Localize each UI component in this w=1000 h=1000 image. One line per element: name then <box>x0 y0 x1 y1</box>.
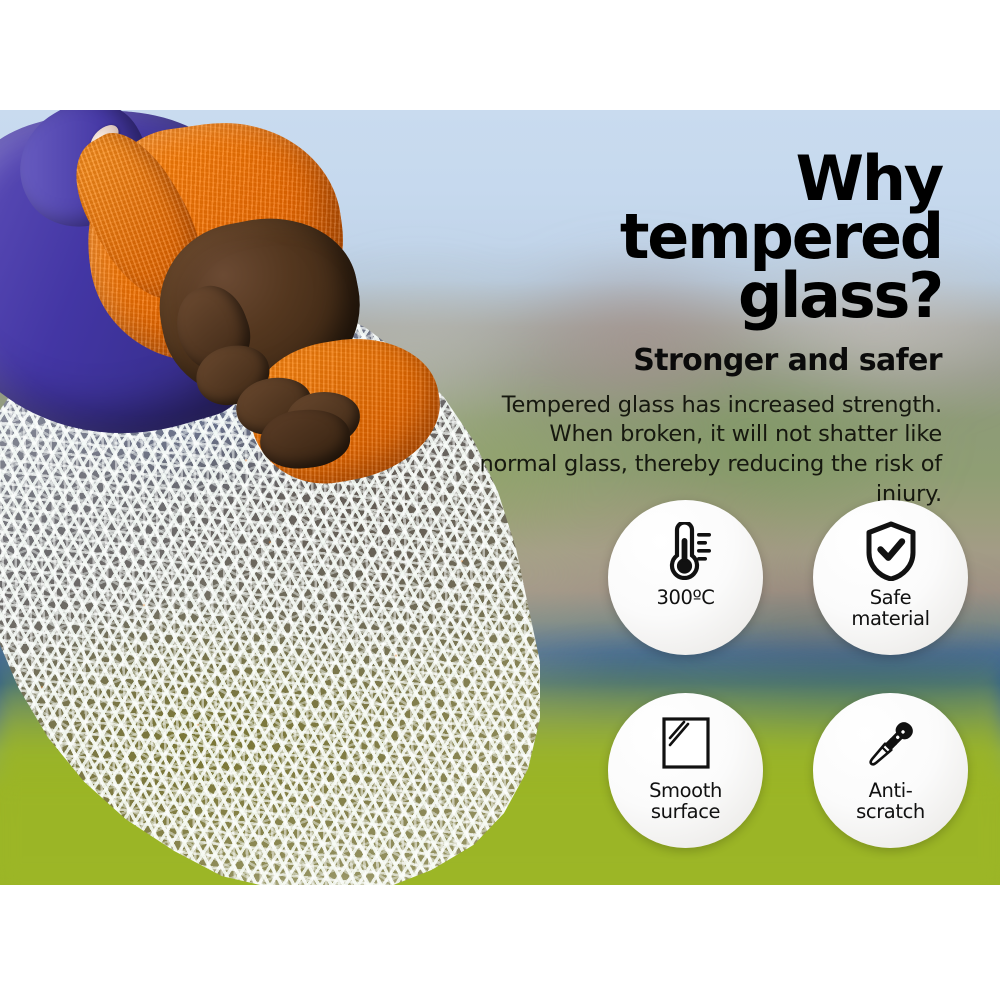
glass-pane-icon <box>658 713 714 775</box>
sleeve-shadow <box>0 118 1 251</box>
badge-smooth-surface: Smooth surface <box>608 693 763 848</box>
thermometer-icon <box>659 520 713 582</box>
feature-badge-grid: 300ºC Safe material Smooth surface <box>608 500 968 860</box>
knife-icon <box>861 713 921 775</box>
badge-anti-scratch-label: Anti- scratch <box>856 781 925 823</box>
badge-anti-scratch: Anti- scratch <box>813 693 968 848</box>
product-feature-poster: Why tempered glass? Stronger and safer T… <box>0 0 1000 1000</box>
headline-line-2: glass? <box>738 259 942 332</box>
body-paragraph: Tempered glass has increased strength. W… <box>472 391 942 510</box>
badge-smooth-surface-label: Smooth surface <box>649 781 722 823</box>
badge-temperature: 300ºC <box>608 500 763 655</box>
copy-block: Why tempered glass? Stronger and safer T… <box>472 150 942 510</box>
badge-safe-material-label: Safe material <box>851 588 929 630</box>
headline: Why tempered glass? <box>472 150 942 325</box>
badge-temperature-label: 300ºC <box>656 588 714 609</box>
headline-line-1: Why tempered <box>620 142 942 273</box>
badge-safe-material: Safe material <box>813 500 968 655</box>
shield-check-icon <box>863 520 919 582</box>
subheadline: Stronger and safer <box>472 344 942 377</box>
